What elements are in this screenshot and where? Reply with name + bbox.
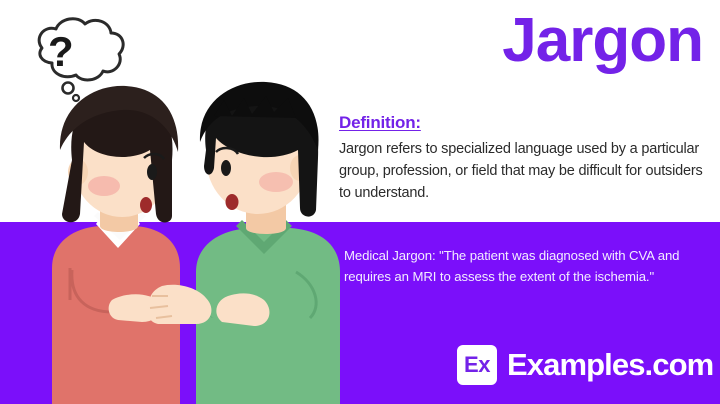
person-girl — [52, 86, 180, 404]
logo-wordmark: Examples.com — [507, 347, 713, 383]
example-text: Medical Jargon: "The patient was diagnos… — [344, 245, 704, 288]
definition-heading: Definition: — [339, 113, 705, 133]
definition-block: Definition: Jargon refers to specialized… — [339, 113, 705, 204]
definition-text: Jargon refers to specialized language us… — [339, 139, 705, 204]
illustration-two-people-talking: ? — [0, 0, 340, 404]
svg-text:?: ? — [48, 28, 74, 75]
page-title: Jargon — [502, 8, 703, 73]
example-block: Medical Jargon: "The patient was diagnos… — [344, 245, 704, 288]
slide-card: ? — [0, 0, 720, 404]
logo-mark-icon: Ex — [457, 345, 497, 385]
examples-logo[interactable]: Ex Examples.com — [457, 345, 713, 385]
